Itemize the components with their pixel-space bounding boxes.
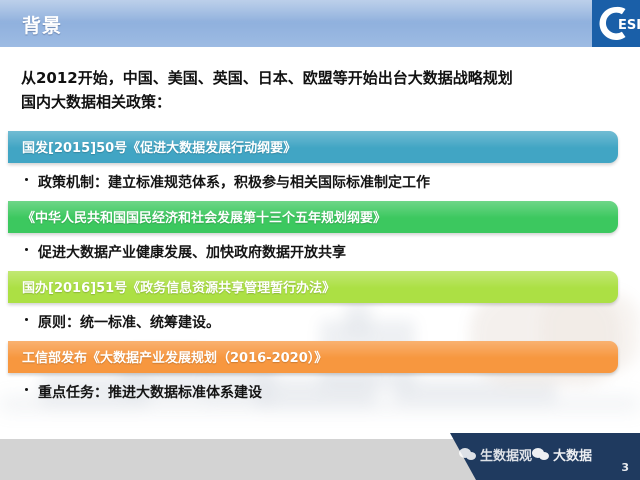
svg-text:ESI: ESI	[618, 18, 640, 33]
policy-block: 国办[2016]51号《政务信息资源共享管理暂行办法》 原则：统一标准、统筹建设…	[0, 271, 640, 341]
policy-bar[interactable]: 国办[2016]51号《政务信息资源共享管理暂行办法》	[8, 271, 618, 303]
policy-bar-label: 国办[2016]51号《政务信息资源共享管理暂行办法》	[8, 271, 618, 296]
main-title-line-1: 从2012开始，中国、美国、英国、日本、欧盟等开始出台大数据战略规划	[21, 66, 621, 90]
policy-detail-text: 原则：统一标准、统筹建设。	[38, 315, 220, 331]
policy-block: 国发[2015]50号《促进大数据发展行动纲要》 政策机制：建立标准规范体系，积…	[0, 131, 640, 201]
header-band: 背景	[0, 0, 640, 47]
watermark-primary-text: 大数据	[553, 445, 592, 464]
policy-block: 工信部发布《大数据产业发展规划（2016-2020）》 重点任务：推进大数据标准…	[0, 341, 640, 411]
slide-canvas: 背景 ESI 从2012开始，中国、美国、英国、日本、欧盟等开始出台大数据战略规…	[0, 0, 640, 480]
bullet-dot-icon	[25, 318, 28, 321]
wechat-icon	[459, 448, 476, 461]
bullet-dot-icon	[25, 178, 28, 181]
wechat-icon	[532, 448, 549, 461]
cesi-logo-mark: ESI	[592, 0, 640, 47]
policy-detail: 促进大数据产业健康发展、加快政府数据开放共享	[0, 233, 640, 271]
policy-detail-text: 重点任务：推进大数据标准体系建设	[38, 385, 262, 401]
policy-bar-label: 国发[2015]50号《促进大数据发展行动纲要》	[8, 131, 618, 156]
policy-detail: 重点任务：推进大数据标准体系建设	[0, 373, 640, 411]
policy-block: 《中华人民共和国国民经济和社会发展第十三个五年规划纲要》 促进大数据产业健康发展…	[0, 201, 640, 271]
main-title: 从2012开始，中国、美国、英国、日本、欧盟等开始出台大数据战略规划 国内大数据…	[21, 66, 621, 114]
policy-bar[interactable]: 《中华人民共和国国民经济和社会发展第十三个五年规划纲要》	[8, 201, 618, 233]
policy-detail-text: 政策机制：建立标准规范体系，积极参与相关国际标准制定工作	[38, 175, 430, 191]
policy-detail: 原则：统一标准、统筹建设。	[0, 303, 640, 341]
page-title: 背景	[22, 11, 62, 38]
policy-detail: 政策机制：建立标准规范体系，积极参与相关国际标准制定工作	[0, 163, 640, 201]
bullet-dot-icon	[25, 248, 28, 251]
policy-bar-label: 《中华人民共和国国民经济和社会发展第十三个五年规划纲要》	[8, 201, 618, 226]
main-title-line-2: 国内大数据相关政策：	[21, 90, 621, 114]
watermark-primary: 大数据	[532, 445, 592, 464]
cesi-logo: ESI	[592, 0, 640, 47]
policy-bar-label: 工信部发布《大数据产业发展规划（2016-2020）》	[8, 341, 618, 366]
policy-bar[interactable]: 工信部发布《大数据产业发展规划（2016-2020）》	[8, 341, 618, 373]
policy-bar[interactable]: 国发[2015]50号《促进大数据发展行动纲要》	[8, 131, 618, 163]
header-sheen	[0, 0, 640, 24]
bullet-dot-icon	[25, 388, 28, 391]
watermark-secondary-text: 生数据观	[480, 445, 532, 464]
watermark-secondary: 生数据观	[459, 445, 532, 464]
policy-detail-text: 促进大数据产业健康发展、加快政府数据开放共享	[38, 245, 346, 261]
page-number: 3	[621, 461, 629, 474]
policy-list: 国发[2015]50号《促进大数据发展行动纲要》 政策机制：建立标准规范体系，积…	[0, 131, 640, 411]
